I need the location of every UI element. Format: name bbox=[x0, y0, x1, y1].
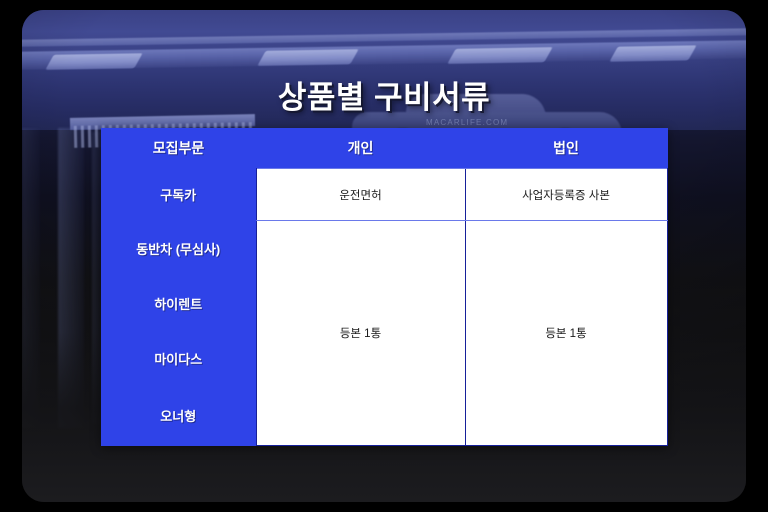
row-label-high-rent: 하이렌트 bbox=[101, 276, 256, 331]
table-row: 동반차 (무심사) 등본 1통 등본 1통 bbox=[101, 221, 667, 276]
table-body: 구독카 운전면허 사업자등록증 사본 동반차 (무심사) 등본 1통 등본 1통… bbox=[101, 169, 667, 446]
required-documents-table: 모집부문 개인 법인 구독카 운전면허 사업자등록증 사본 동반차 (무심사) … bbox=[101, 128, 668, 446]
background-watermark: MACARLIFE.COM bbox=[426, 118, 508, 127]
slide-title: 상품별 구비서류 bbox=[22, 72, 746, 117]
row-label-subscription-car: 구독카 bbox=[101, 169, 256, 221]
ceiling-light-panel bbox=[45, 53, 142, 70]
row-label-owner-type: 오너형 bbox=[101, 386, 256, 446]
cell-corporate-subscription-car: 사업자등록증 사본 bbox=[465, 169, 667, 221]
presentation-slide: MACARLIFE.COM 상품별 구비서류 모집부문 개인 법인 구독카 운전… bbox=[22, 10, 746, 502]
row-label-companion-car: 동반차 (무심사) bbox=[101, 221, 256, 276]
ceiling-light-panel bbox=[609, 45, 696, 61]
column-header-individual: 개인 bbox=[256, 128, 465, 169]
column-header-category: 모집부문 bbox=[101, 128, 256, 169]
cell-corporate-merged-registry: 등본 1통 bbox=[465, 221, 667, 446]
column-header-corporate: 법인 bbox=[465, 128, 667, 169]
table-header: 모집부문 개인 법인 bbox=[101, 128, 667, 169]
row-label-midas: 마이다스 bbox=[101, 331, 256, 386]
wall-pillar bbox=[22, 128, 40, 428]
table-header-row: 모집부문 개인 법인 bbox=[101, 128, 667, 169]
ceiling-light-panel bbox=[257, 49, 358, 66]
cell-individual-subscription-car: 운전면허 bbox=[256, 169, 465, 221]
wall-pillar bbox=[58, 128, 84, 428]
screenshot-stage: MACARLIFE.COM 상품별 구비서류 모집부문 개인 법인 구독카 운전… bbox=[0, 0, 768, 512]
cell-individual-merged-registry: 등본 1통 bbox=[256, 221, 465, 446]
ceiling-light-panel bbox=[447, 47, 552, 64]
table-row: 구독카 운전면허 사업자등록증 사본 bbox=[101, 169, 667, 221]
